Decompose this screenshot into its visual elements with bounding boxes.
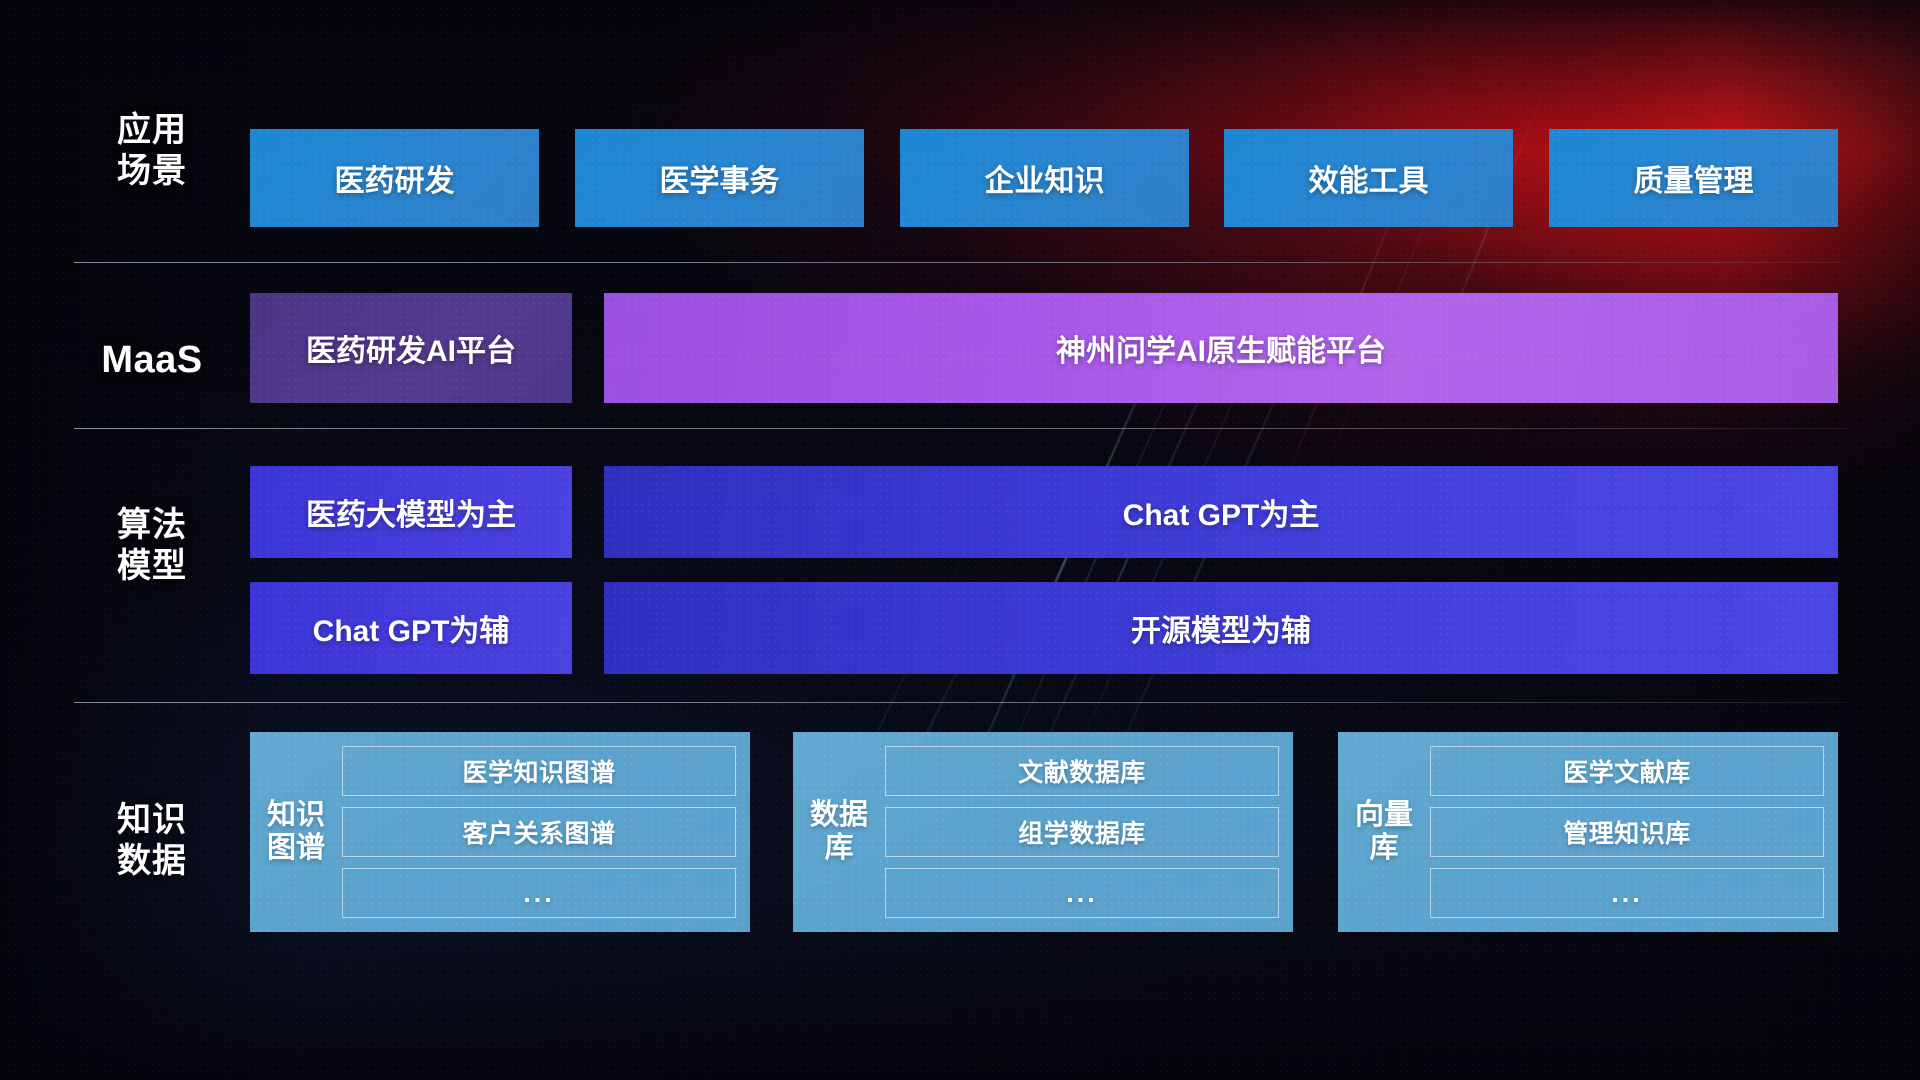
knowledge-card-graph-title: 知识图谱: [264, 744, 328, 920]
algo-box-secondary-left-label: Chat GPT为辅: [313, 606, 510, 650]
row-label-application-line2: 场景: [86, 151, 218, 192]
knowledge-item[interactable]: 客户关系图谱: [342, 807, 736, 857]
row-label-application-line1: 应用: [86, 110, 218, 151]
knowledge-card-database-title: 数据库: [807, 744, 871, 920]
knowledge-item-more[interactable]: ...: [342, 868, 736, 918]
app-box-1[interactable]: 医药研发: [250, 129, 539, 227]
algo-box-secondary-left[interactable]: Chat GPT为辅: [250, 582, 572, 674]
row-label-application: 应用 场景: [86, 110, 218, 193]
app-box-4-label: 效能工具: [1309, 156, 1429, 200]
knowledge-item[interactable]: 医学知识图谱: [342, 746, 736, 796]
app-box-4[interactable]: 效能工具: [1224, 129, 1513, 227]
app-box-5-label: 质量管理: [1634, 156, 1754, 200]
slide-canvas: 应用 场景 医药研发 医学事务 企业知识 效能工具 质量管理 MaaS 医药研发…: [0, 0, 1920, 1080]
knowledge-card-graph-list: 医学知识图谱 客户关系图谱 ...: [342, 744, 736, 920]
maas-box-platform[interactable]: 医药研发AI平台: [250, 293, 572, 403]
maas-box-enablement-label: 神州问学AI原生赋能平台: [1056, 326, 1386, 370]
row-label-algorithm-line1: 算法: [86, 505, 218, 546]
knowledge-item[interactable]: 组学数据库: [885, 807, 1279, 857]
knowledge-card-vector[interactable]: 向量库 医学文献库 管理知识库 ...: [1338, 732, 1838, 932]
algo-box-primary-left-label: 医药大模型为主: [306, 490, 516, 534]
row-label-knowledge: 知识 数据: [86, 800, 218, 883]
app-box-2-label: 医学事务: [660, 156, 780, 200]
algo-box-secondary-right-label: 开源模型为辅: [1131, 606, 1311, 650]
knowledge-card-database[interactable]: 数据库 文献数据库 组学数据库 ...: [793, 732, 1293, 932]
divider-3: [74, 702, 1846, 703]
app-box-3-label: 企业知识: [985, 156, 1105, 200]
app-box-1-label: 医药研发: [335, 156, 455, 200]
algo-box-primary-right[interactable]: Chat GPT为主: [604, 466, 1838, 558]
divider-1: [74, 262, 1846, 263]
knowledge-item[interactable]: 管理知识库: [1430, 807, 1824, 857]
knowledge-item[interactable]: 文献数据库: [885, 746, 1279, 796]
row-label-maas: MaaS: [86, 337, 218, 383]
knowledge-card-vector-list: 医学文献库 管理知识库 ...: [1430, 744, 1824, 920]
row-label-algorithm-line2: 模型: [86, 546, 218, 587]
row-label-knowledge-line1: 知识: [86, 800, 218, 841]
app-box-3[interactable]: 企业知识: [900, 129, 1189, 227]
algo-box-primary-right-label: Chat GPT为主: [1123, 490, 1320, 534]
divider-2: [74, 428, 1846, 429]
row-label-algorithm: 算法 模型: [86, 505, 218, 588]
knowledge-item[interactable]: 医学文献库: [1430, 746, 1824, 796]
knowledge-card-graph[interactable]: 知识图谱 医学知识图谱 客户关系图谱 ...: [250, 732, 750, 932]
knowledge-card-vector-title: 向量库: [1352, 744, 1416, 920]
maas-box-platform-label: 医药研发AI平台: [306, 326, 516, 370]
maas-box-enablement[interactable]: 神州问学AI原生赋能平台: [604, 293, 1838, 403]
row-label-maas-text: MaaS: [86, 337, 218, 383]
app-box-5[interactable]: 质量管理: [1549, 129, 1838, 227]
algo-box-primary-left[interactable]: 医药大模型为主: [250, 466, 572, 558]
knowledge-card-database-list: 文献数据库 组学数据库 ...: [885, 744, 1279, 920]
app-box-2[interactable]: 医学事务: [575, 129, 864, 227]
knowledge-item-more[interactable]: ...: [1430, 868, 1824, 918]
knowledge-item-more[interactable]: ...: [885, 868, 1279, 918]
row-label-knowledge-line2: 数据: [86, 841, 218, 882]
algo-box-secondary-right[interactable]: 开源模型为辅: [604, 582, 1838, 674]
